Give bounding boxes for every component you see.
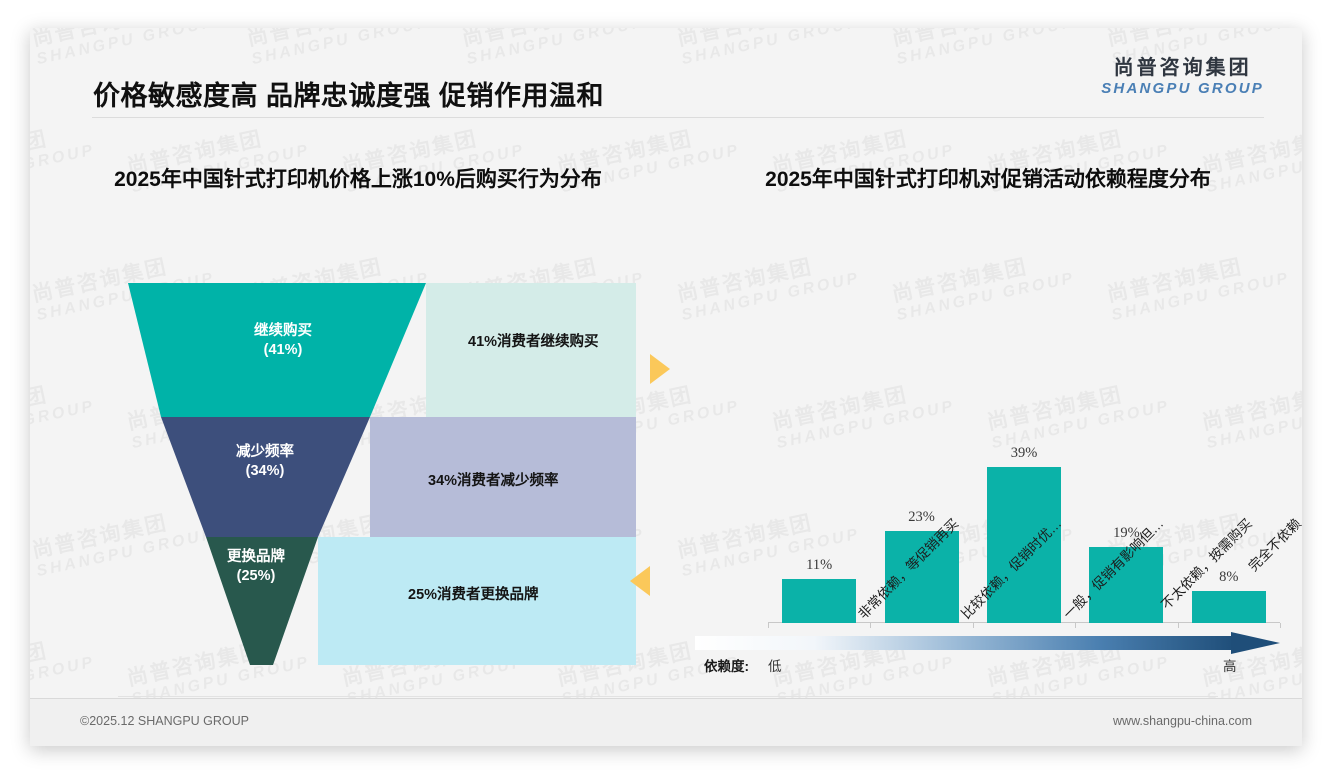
- bar-rect[interactable]: [1192, 591, 1266, 623]
- funnel-annotation-3: 25%消费者更换品牌: [408, 583, 539, 604]
- triangle-right-icon: [650, 354, 670, 384]
- bar-value-label: 11%: [782, 557, 856, 574]
- logo-chinese-text: 尚普咨询集团: [1101, 58, 1264, 79]
- funnel-annotation-1: 41%消费者继续购买: [468, 330, 599, 351]
- right-chart-title: 2025年中国针式打印机对促销活动依赖程度分布: [690, 167, 1286, 194]
- watermark-text: 尚普咨询集团SHANGPU GROUP: [30, 374, 97, 452]
- legend-title: 依赖度:: [704, 655, 749, 675]
- header-divider: [92, 117, 1264, 118]
- funnel-annotation-2: 34%消费者减少频率: [428, 469, 559, 490]
- website-link[interactable]: www.shangpu-china.com: [1113, 714, 1252, 728]
- bar-chart: 11%23%39%19%8% 非常依赖，等促销再买比较依赖，促销时优…一般，促销…: [690, 283, 1290, 623]
- dependency-legend: 依赖度: 低 高: [690, 622, 1290, 682]
- screenshot-root: 尚普咨询集团SHANGPU GROUP尚普咨询集团SHANGPU GROUP尚普…: [0, 0, 1340, 780]
- left-chart-title: 2025年中国针式打印机价格上涨10%后购买行为分布: [48, 167, 668, 194]
- footnote-divider: [118, 696, 1218, 697]
- logo-english-text: SHANGPU GROUP: [1101, 81, 1264, 97]
- slide-header: 价格敏感度高 品牌忠诚度强 促销作用温和 尚普咨询集团 SHANGPU GROU…: [30, 28, 1302, 120]
- brand-logo: 尚普咨询集团 SHANGPU GROUP: [1101, 58, 1264, 97]
- bar-value-label: 39%: [987, 445, 1061, 462]
- slide-card: 尚普咨询集团SHANGPU GROUP尚普咨询集团SHANGPU GROUP尚普…: [30, 28, 1302, 746]
- triangle-left-icon: [630, 566, 650, 596]
- bar-item[interactable]: 11%: [782, 557, 856, 623]
- copyright-text: ©2025.12 SHANGPU GROUP: [80, 714, 249, 728]
- bar-rect[interactable]: [782, 579, 856, 623]
- legend-low-label: 低: [768, 655, 782, 675]
- legend-high-label: 高: [1223, 655, 1237, 675]
- funnel-segment-1: [128, 283, 426, 417]
- funnel-chart: 继续购买 (41%) 减少频率 (34%) 更换品牌 (25%) 41%消费者继…: [128, 283, 636, 665]
- watermark-text: 尚普咨询集团SHANGPU GROUP: [30, 630, 97, 708]
- legend-gradient-arrow: [695, 632, 1280, 654]
- funnel-segment-3: [206, 537, 318, 665]
- page-title: 价格敏感度高 品牌忠诚度强 促销作用温和: [93, 74, 604, 113]
- slide-footer: ©2025.12 SHANGPU GROUP www.shangpu-china…: [30, 698, 1302, 746]
- funnel-segment-2: [161, 417, 370, 537]
